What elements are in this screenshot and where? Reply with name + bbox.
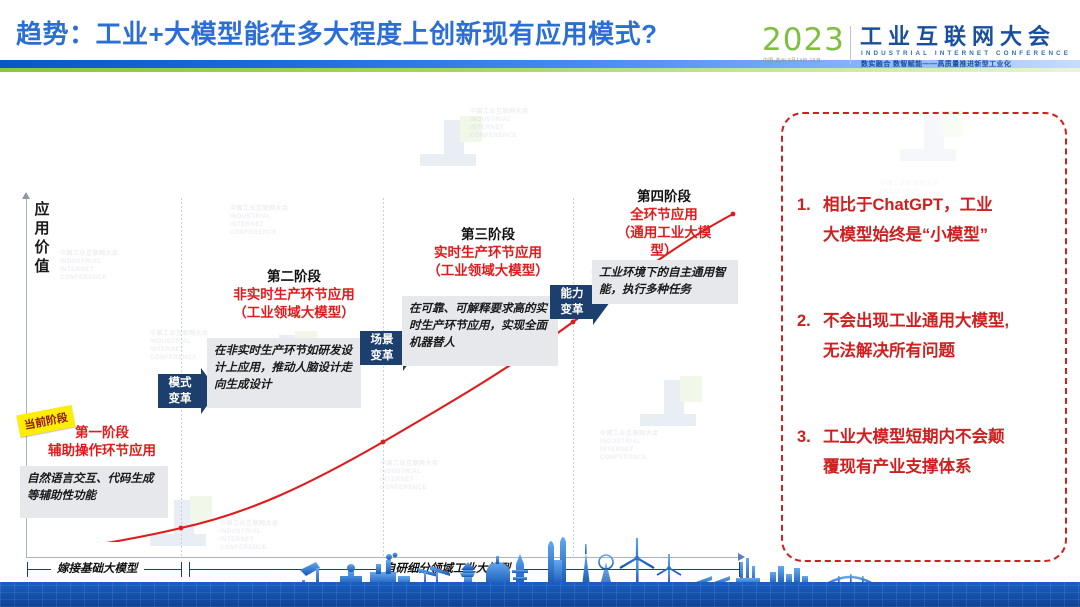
takeaway-item-3: 3. 工业大模型短期内不会颠 覆现有产业支撑体系 [797, 422, 1059, 482]
transition-arrow-3-label: 能力变革 [550, 285, 594, 319]
logo-divider [850, 26, 851, 64]
transition-arrow-1-label: 模式变革 [158, 374, 202, 408]
stage-2-name-line2: （工业领域大模型） [206, 304, 382, 322]
takeaway-1-line2: 大模型始终是“小模型” [823, 220, 1059, 250]
takeaway-3-line1: 工业大模型短期内不会颠 [823, 422, 1059, 452]
slide-header: 趋势：工业+大模型能在多大程度上创新现有应用模式? 2023 中国·苏州 9月1… [0, 0, 1080, 70]
stage-3-name-line2: （工业领域大模型） [400, 262, 576, 280]
stage-4-number: 第四阶段 [594, 188, 734, 206]
stage-2-description: 在非实时生产环节如研发设计上应用，推动人脑设计走向生成设计 [207, 338, 361, 408]
takeaway-2-line1: 不会出现工业通用大模型, [823, 306, 1059, 336]
takeaway-2-number: 2. [797, 306, 819, 336]
takeaway-1-number: 1. [797, 190, 819, 220]
conference-logo: 2023 中国·苏州 9月14日-16日 工业互联网大会 INDUSTRIAL … [762, 24, 1068, 68]
stage-3-number: 第三阶段 [400, 226, 576, 244]
stage-4-name-line3: 型） [594, 242, 734, 260]
stage-2-number: 第二阶段 [206, 268, 382, 286]
takeaway-2-line2: 无法解决所有问题 [823, 336, 1059, 366]
skyline-decoration [0, 532, 1080, 607]
evolution-chart: 应用价值 当前阶段 第一阶段 辅助操作环节应用 自然语言交互、代码生成等辅助性功… [0, 72, 770, 542]
page-title: 趋势：工业+大模型能在多大程度上创新现有应用模式? [16, 14, 658, 51]
stage-4-description: 工业环境下的自主通用智能，执行多种任务 [592, 260, 738, 304]
stage-3-name-line1: 实时生产环节应用 [400, 244, 576, 262]
transition-arrow-2-label: 场景变革 [360, 331, 404, 365]
takeaway-3-number: 3. [797, 422, 819, 452]
stage-3-description: 在可靠、可解释要求高的实时生产环节应用，实现全面机器替人 [402, 296, 558, 366]
logo-date: 中国·苏州 9月14日-16日 [763, 57, 821, 64]
stage-3-title: 第三阶段 实时生产环节应用 （工业领域大模型） [400, 226, 576, 280]
logo-name-cn: 工业互联网大会 [860, 25, 1056, 49]
key-takeaways-callout: 1. 相比于ChatGPT，工业 大模型始终是“小模型” 2. 不会出现工业通用… [781, 112, 1067, 562]
logo-year: 2023 [762, 24, 845, 56]
takeaway-3-line2: 覆现有产业支撑体系 [823, 452, 1059, 482]
stage-1-title: 第一阶段 辅助操作环节应用 [30, 424, 174, 460]
stage-1-number: 第一阶段 [30, 424, 174, 442]
stage-4-title: 第四阶段 全环节应用 （通用工业大模 型） [594, 188, 734, 260]
logo-slogan: 数实融合 数智赋能——高质量推进新型工业化 [861, 59, 1011, 69]
stage-2-name-line1: 非实时生产环节应用 [206, 286, 382, 304]
stage-4-name-line2: （通用工业大模 [594, 224, 734, 242]
stage-2-title: 第二阶段 非实时生产环节应用 （工业领域大模型） [206, 268, 382, 322]
takeaway-item-2: 2. 不会出现工业通用大模型, 无法解决所有问题 [797, 306, 1059, 366]
takeaway-item-1: 1. 相比于ChatGPT，工业 大模型始终是“小模型” [797, 190, 1059, 250]
slide-canvas: 中国工业互联网大会INDUSTRIALINTERNETCONFERENCE 中国… [0, 0, 1080, 607]
takeaway-1-line1: 相比于ChatGPT，工业 [823, 190, 1059, 220]
stage-1-description: 自然语言交互、代码生成等辅助性功能 [20, 466, 168, 518]
logo-name-en: INDUSTRIAL INTERNET CONFERENCE [861, 50, 1071, 57]
sea-grid-overlay [0, 582, 1080, 607]
stage-4-name-line1: 全环节应用 [594, 206, 734, 224]
stage-1-name: 辅助操作环节应用 [30, 442, 174, 460]
